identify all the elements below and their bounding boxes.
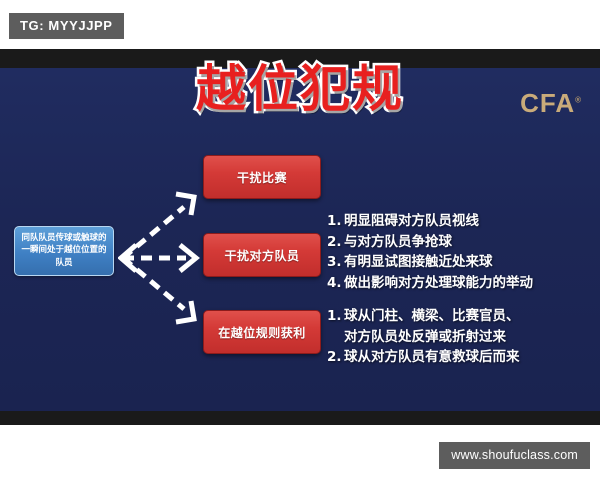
cfa-logo-text: CFA (520, 88, 575, 118)
branch-box-gaining-advantage: 在越位规则获利 (203, 310, 321, 354)
list-item-continuation: 对方队员处反弹或折射过来 (327, 327, 589, 348)
list-item: 1. 球从门柱、横梁、比赛官员、 (327, 306, 589, 327)
detail-list-interfering-with-opponent: 1. 明显阻碍对方队员视线 2. 与对方队员争抢球 3. 有明显试图接触近处来球… (327, 211, 589, 293)
branch-box-label: 干扰比赛 (237, 169, 287, 186)
list-item-text: 球从对方队员有意救球后而来 (344, 347, 520, 368)
cfa-logo: CFA® (520, 90, 582, 116)
video-frame: 越位犯规 CFA® 同队队员传球或触球的一瞬间处于越位位置的队员 (0, 49, 600, 425)
list-item-number: 2. (327, 347, 344, 368)
list-item-number: 1. (327, 211, 344, 232)
source-box-label: 同队队员传球或触球的一瞬间处于越位位置的队员 (21, 233, 106, 268)
list-item: 4. 做出影响对方处理球能力的举动 (327, 273, 589, 294)
list-item-number: 1. (327, 306, 344, 327)
list-item-text: 做出影响对方处理球能力的举动 (344, 273, 533, 294)
offside-position-definition-box: 同队队员传球或触球的一瞬间处于越位位置的队员 (14, 226, 114, 276)
letterbox-bottom-bar (0, 411, 600, 425)
branch-box-label: 干扰对方队员 (224, 247, 299, 264)
list-item: 2. 球从对方队员有意救球后而来 (327, 347, 589, 368)
list-item: 2. 与对方队员争抢球 (327, 232, 589, 253)
registered-trademark-icon: ® (575, 95, 582, 104)
list-item-number: 2. (327, 232, 344, 253)
site-watermark: www.shoufuclass.com (439, 442, 590, 470)
list-item-number: 4. (327, 273, 344, 294)
tg-handle-badge: TG: MYYJJPP (9, 13, 124, 39)
branch-box-label: 在越位规则获利 (218, 324, 306, 341)
list-item-text: 明显阻碍对方队员视线 (344, 211, 479, 232)
list-item-text: 与对方队员争抢球 (344, 232, 452, 253)
presentation-slide: 越位犯规 CFA® 同队队员传球或触球的一瞬间处于越位位置的队员 (0, 68, 600, 411)
list-item: 1. 明显阻碍对方队员视线 (327, 211, 589, 232)
page-title: 越位犯规 (0, 64, 600, 114)
list-item-text: 有明显试图接触近处来球 (344, 252, 493, 273)
list-item-number: 3. (327, 252, 344, 273)
branch-box-interfering-with-play: 干扰比赛 (203, 155, 321, 199)
branch-box-interfering-with-opponent: 干扰对方队员 (203, 233, 321, 277)
list-item-text: 球从门柱、横梁、比赛官员、 (344, 306, 520, 327)
detail-list-gaining-advantage: 1. 球从门柱、横梁、比赛官员、 对方队员处反弹或折射过来 2. 球从对方队员有… (327, 306, 589, 368)
list-item: 3. 有明显试图接触近处来球 (327, 252, 589, 273)
